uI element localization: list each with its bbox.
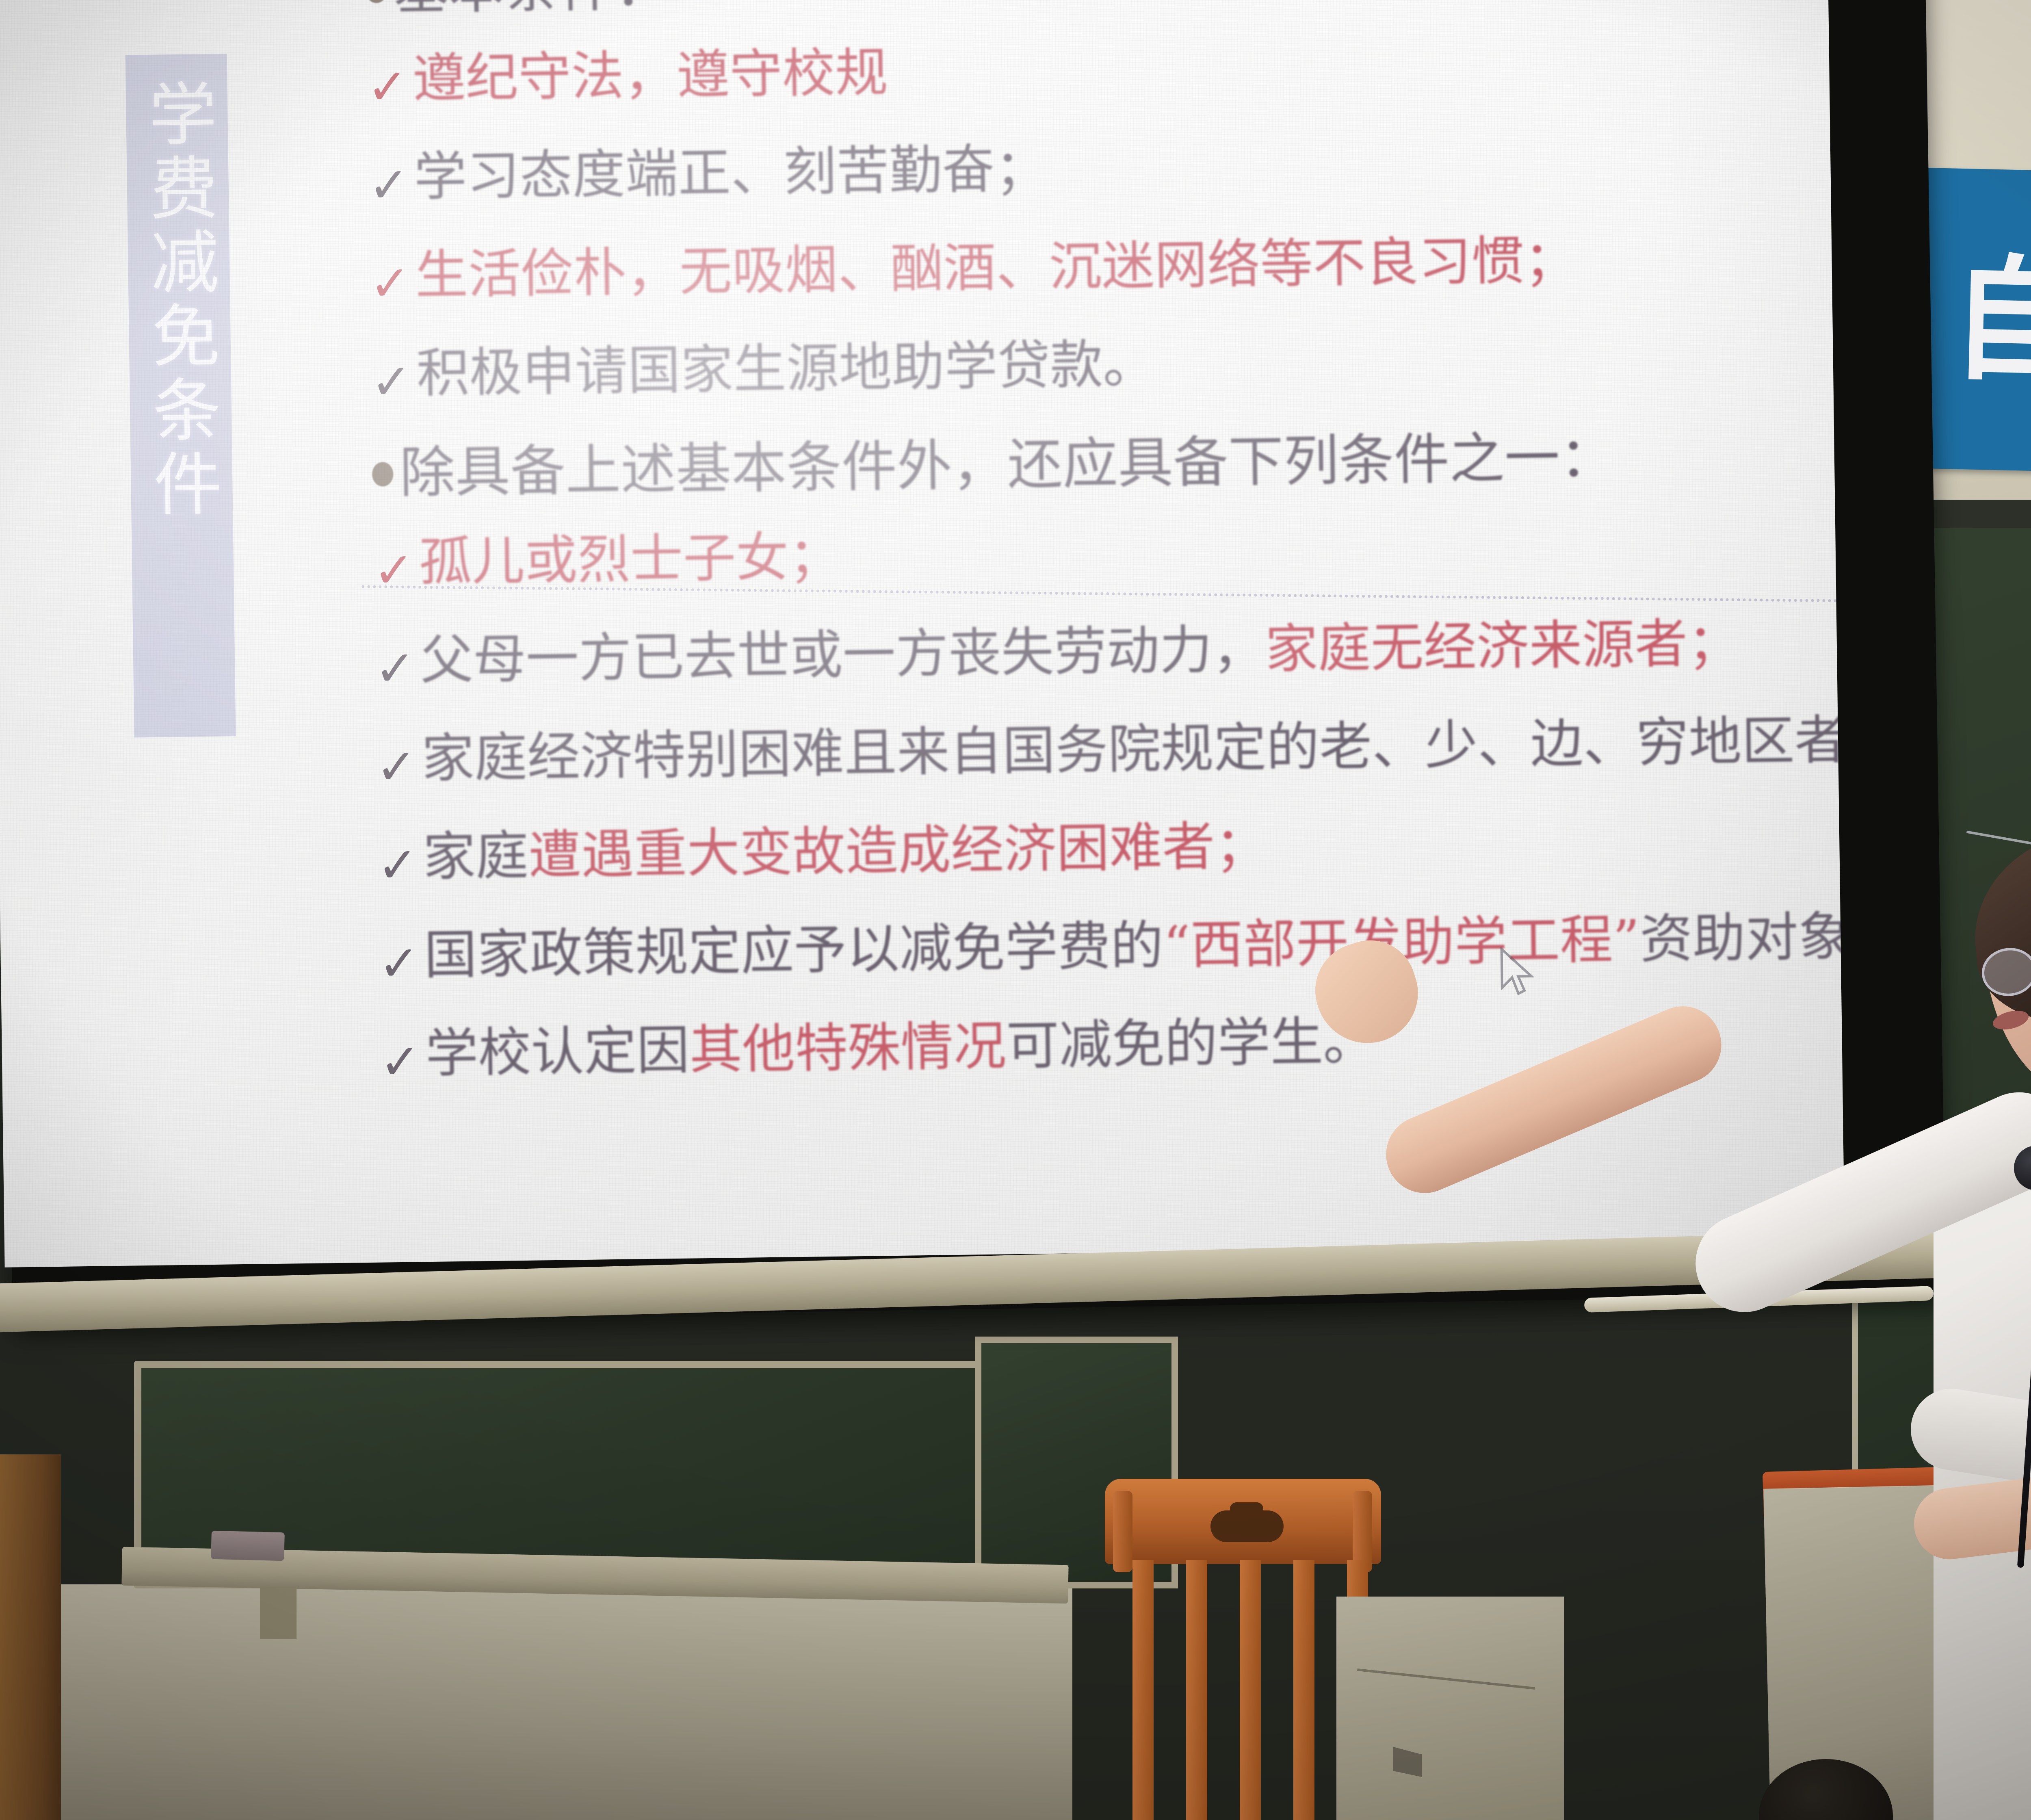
bullet-heading-text-1: 基本条件：: [393, 0, 670, 17]
bullet-heading-text-2: 除具备上述基本条件外，还应具备下列条件之一：: [399, 430, 1615, 501]
chalk-eraser: [211, 1531, 285, 1561]
bullet-dot-icon: [366, 0, 387, 3]
slide-item-text-10a: 学校认定因: [425, 1024, 690, 1080]
slide-item-5: ✓ 孤儿或烈士子女；: [373, 516, 1845, 595]
slide-item-text-6a: 父母一方已去世或一方丧失劳动力，: [420, 623, 1266, 687]
slide-item-text-3: 生活俭朴，无吸烟、酗酒、沉迷网络等不良习惯；: [415, 234, 1577, 301]
lower-wall-left: [57, 1584, 1072, 1820]
slide-item-text-10b: 其他特殊情况: [689, 1019, 1007, 1076]
slide-item-2: ✓ 学习态度端正、刻苦勤奋；: [368, 131, 1845, 210]
chair-slat-2: [1186, 1560, 1207, 1820]
chair-slat-1: [1132, 1560, 1154, 1820]
slide-item-text-5: 孤儿或烈士子女；: [419, 530, 842, 589]
glasses-lens-left: [1979, 945, 2031, 1000]
slide-item-text-7: 家庭经济特别困难且来自国务院规定的老、少、边、穷地区者；: [421, 713, 1845, 785]
chair-post-left: [1113, 1491, 1132, 1572]
chair-slat-4: [1293, 1560, 1314, 1820]
presenter: [1852, 821, 2031, 1820]
slide-item-text-4: 积极申请国家生源地助学贷款。: [416, 337, 1156, 400]
slide-bullet-heading-1: 基本条件：: [366, 0, 1845, 18]
check-icon: ✓: [370, 357, 412, 407]
screenshot-root: 自 强 不 息 12 1 2 3 4 5 6 7 8 9 10 11: [0, 0, 2031, 1820]
check-icon: ✓: [367, 63, 408, 112]
check-icon: ✓: [379, 1038, 421, 1087]
slide-side-tab: 学费减免条件: [126, 54, 236, 737]
slide-bullet-heading-2: 除具备上述基本条件外，还应具备下列条件之一：: [372, 426, 1845, 501]
slide-item-6: ✓ 父母一方已去世或一方丧失劳动力， 家庭无经济来源者；: [374, 615, 1845, 693]
slide-item-text-10c: 可减免的学生。: [1006, 1015, 1376, 1072]
slide-item-text-6b: 家庭无经济来源者；: [1265, 617, 1741, 676]
slide-item-text-1: 遵纪守法，遵守校规: [412, 46, 888, 105]
slide-item-1: ✓ 遵纪守法，遵守校规: [367, 33, 1845, 112]
slide-item-4: ✓ 积极申请国家生源地助学贷款。: [370, 328, 1845, 407]
check-icon: ✓: [378, 939, 420, 988]
slide-item-3: ✓ 生活俭朴，无吸烟、酗酒、沉迷网络等不良习惯；: [369, 230, 1845, 308]
chalk-tray-bracket: [260, 1586, 297, 1639]
check-icon: ✓: [376, 743, 417, 792]
slide-item-9: ✓ 国家政策规定应予以减免学费的 “西部开发助学工程” 资助对象；: [378, 910, 1845, 988]
slide-item-text-9c: 资助对象；: [1639, 909, 1845, 965]
check-icon: ✓: [377, 841, 418, 890]
check-icon: ✓: [369, 259, 411, 308]
av-cabinet: [1336, 1597, 1564, 1820]
slide-item-text-8a: 家庭: [422, 829, 529, 883]
glasses-temple-arm: [1966, 831, 2031, 847]
slide-item-8: ✓ 家庭 遭遇重大变故造成经济困难者；: [377, 811, 1845, 890]
wall-sign-char-1: 自: [1950, 251, 2031, 388]
slide-side-tab-title: 学费减免条件: [135, 78, 224, 523]
chair-handle-hole: [1210, 1510, 1284, 1542]
slide-item-7: ✓ 家庭经济特别困难且来自国务院规定的老、少、边、穷地区者；: [375, 713, 1845, 792]
check-icon: ✓: [375, 644, 416, 693]
slide-item-text-2: 学习态度端正、刻苦勤奋；: [414, 142, 1048, 203]
bullet-dot-icon: [372, 462, 394, 487]
door-frame-left: [0, 1454, 61, 1820]
chair-slat-3: [1240, 1560, 1261, 1820]
slide-item-text-9a: 国家政策规定应予以减免学费的: [424, 919, 1164, 981]
slide-item-text-8b: 遭遇重大变故造成经济困难者；: [528, 819, 1268, 882]
slide-body: 基本条件： ✓ 遵纪守法，遵守校规 ✓ 学习态度端正、刻苦勤奋； ✓ 生活俭朴，…: [366, 0, 1845, 1126]
check-icon: ✓: [368, 161, 409, 210]
